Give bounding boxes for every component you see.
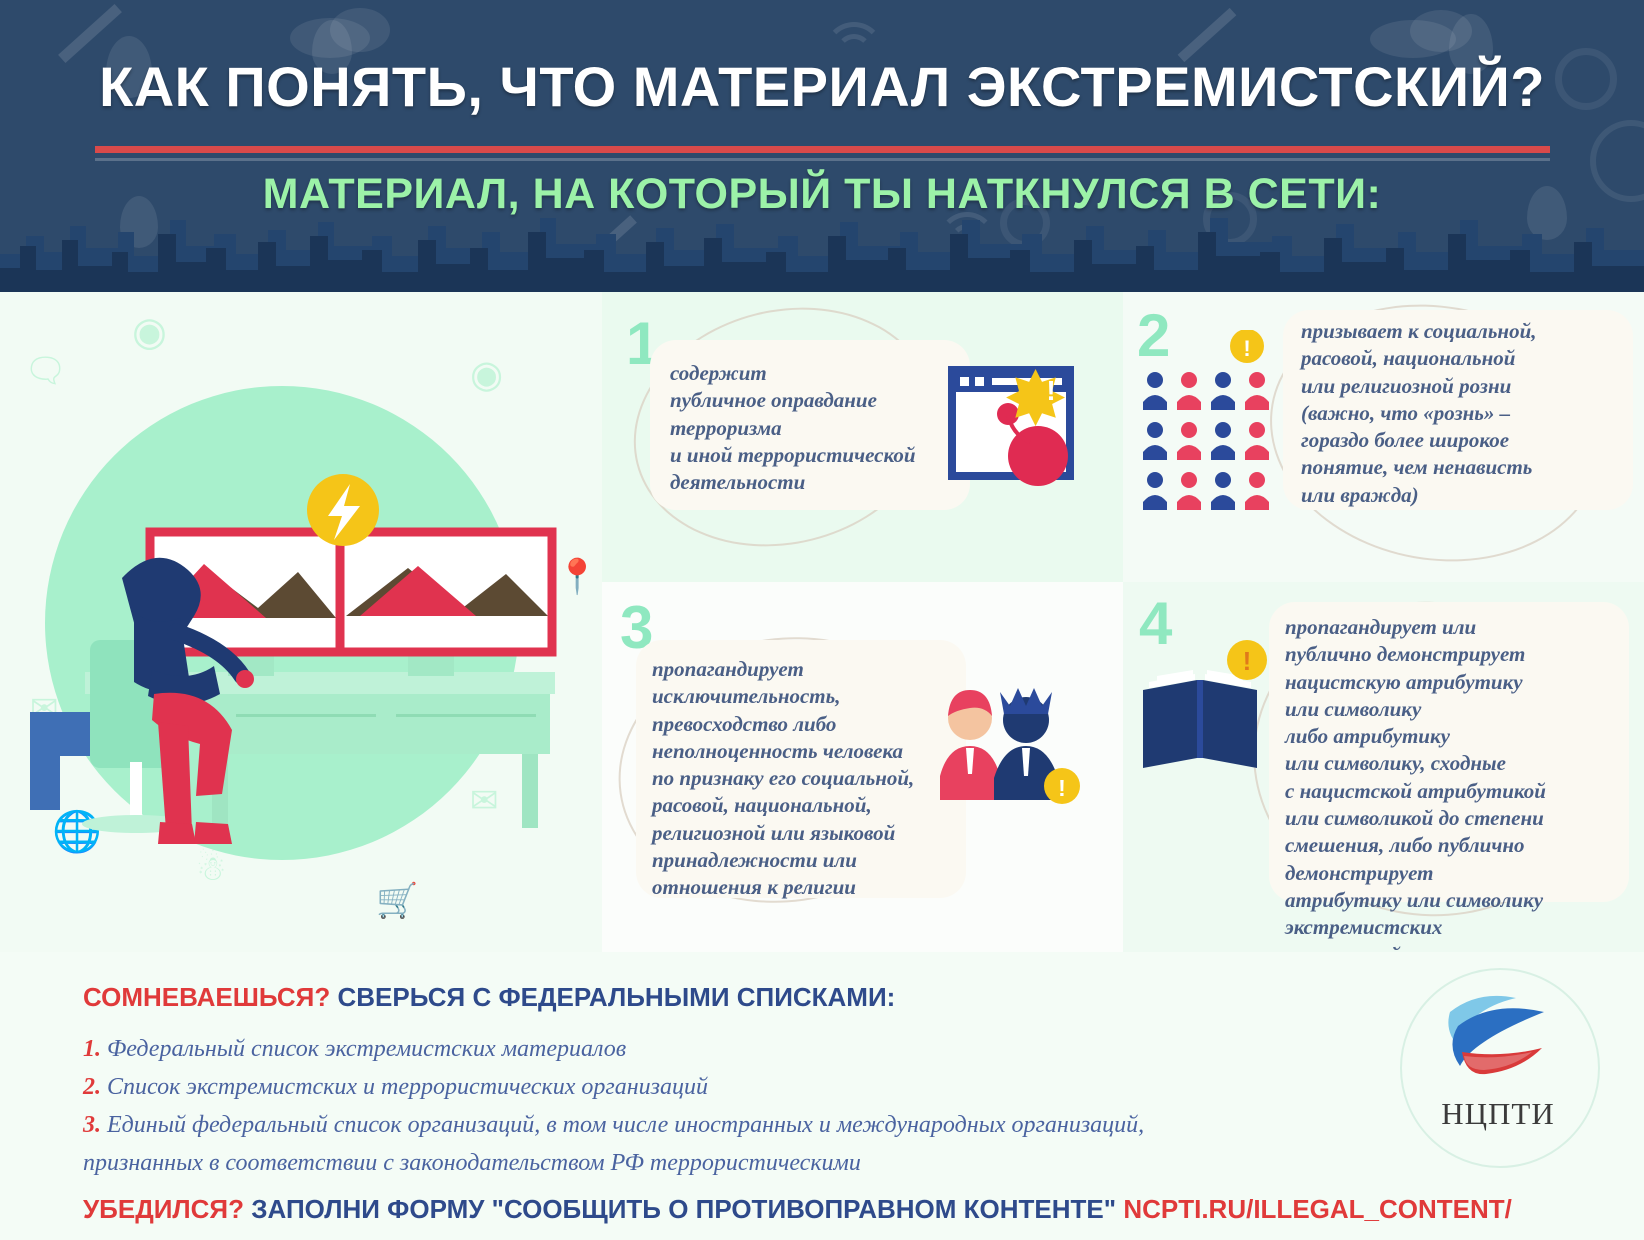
chat-bubble-icon: 🗨 <box>24 354 67 388</box>
list-item: 2. Список экстремистских и террористичес… <box>83 1074 708 1101</box>
list-item-number: 3. <box>83 1112 101 1138</box>
reason-text-4: пропагандирует или публично демонстрируе… <box>1285 614 1635 969</box>
illustration-panel: 🗨 ◉ ◉ 🌐 ✉ ✉ ☃ 🛒 📍 <box>0 292 602 952</box>
reason-cell-1: 1 содержит публичное оправдание террориз… <box>602 292 1123 582</box>
cloud-icon <box>330 8 390 52</box>
reason-text-2: призывает к социальной, расовой, национа… <box>1301 318 1631 509</box>
list-item: 1. Федеральный список экстремистских мат… <box>83 1036 626 1063</box>
list-item-continuation: признанных в соответствии с законодатель… <box>83 1150 861 1177</box>
list-item-number: 1. <box>83 1036 101 1062</box>
reason-text-1: содержит публичное оправдание терроризма… <box>670 360 970 496</box>
open-book-warning-icon: ! <box>1135 634 1285 784</box>
camera-icon: ◉ <box>470 356 503 394</box>
list-item: 3. Единый федеральный список организаций… <box>83 1112 1144 1139</box>
footer-heading-action: СВЕРЬСЯ С ФЕДЕРАЛЬНЫМИ СПИСКАМИ: <box>337 982 895 1012</box>
shopping-cart-icon: 🛒 <box>376 884 418 918</box>
twitter-bird-icon: ☃ <box>196 852 226 886</box>
list-item-label: Список экстремистских и террористических… <box>107 1074 708 1100</box>
title-divider-secondary <box>95 158 1550 161</box>
footer-cta-question: УБЕДИЛСЯ? <box>83 1194 244 1224</box>
page-title: КАК ПОНЯТЬ, ЧТО МАТЕРИАЛ ЭКСТРЕМИСТСКИЙ? <box>0 54 1644 119</box>
footer-cta-url[interactable]: NCPTI.RU/ILLEGAL_CONTENT/ <box>1123 1194 1512 1224</box>
reason-cell-2: 2 призывает к социальной, расовой, нацио… <box>1123 292 1644 582</box>
reason-cell-4: 4 пропагандирует или публично демонстрир… <box>1123 582 1644 952</box>
logo-text: НЦПТИ <box>1400 1096 1596 1132</box>
reason-grid: 1 содержит публичное оправдание террориз… <box>602 292 1644 952</box>
cloud-icon <box>1370 20 1456 58</box>
list-item-label: Единый федеральный список организаций, в… <box>107 1112 1144 1138</box>
browser-window-bomb-icon: ! <box>942 354 1092 494</box>
footer-cta-action: ЗАПОЛНИ ФОРМУ "СООБЩИТЬ О ПРОТИВОПРАВНОМ… <box>251 1194 1116 1224</box>
poster-footer: СОМНЕВАЕШЬСЯ? СВЕРЬСЯ С ФЕДЕРАЛЬНЫМИ СПИ… <box>0 952 1644 1240</box>
footer-cta: УБЕДИЛСЯ? ЗАПОЛНИ ФОРМУ "СООБЩИТЬ О ПРОТ… <box>83 1194 1512 1225</box>
footer-heading: СОМНЕВАЕШЬСЯ? СВЕРЬСЯ С ФЕДЕРАЛЬНЫМИ СПИ… <box>83 982 895 1013</box>
title-divider <box>95 146 1550 153</box>
cloud-icon <box>1410 10 1472 52</box>
svg-text:!: ! <box>1243 336 1250 361</box>
ncpti-globe-swoosh-logo <box>1428 982 1568 1100</box>
crowd-of-people-icon: ! <box>1141 330 1291 520</box>
at-sign-icon: ◉ <box>132 312 167 352</box>
content-area: 🗨 ◉ ◉ 🌐 ✉ ✉ ☃ 🛒 📍 <box>0 292 1644 952</box>
list-item-label: Федеральный список экстремистских матери… <box>107 1036 626 1062</box>
two-people-with-crown-icon: ! <box>922 658 1082 818</box>
reason-cell-3: 3 пропагандирует исключительность, прево… <box>602 582 1123 952</box>
svg-text:!: ! <box>1046 375 1055 406</box>
infographic-poster: КАК ПОНЯТЬ, ЧТО МАТЕРИАЛ ЭКСТРЕМИСТСКИЙ?… <box>0 0 1644 1240</box>
svg-text:!: ! <box>1243 646 1252 676</box>
poster-header: КАК ПОНЯТЬ, ЧТО МАТЕРИАЛ ЭКСТРЕМИСТСКИЙ?… <box>0 0 1644 292</box>
footer-heading-question: СОМНЕВАЕШЬСЯ? <box>83 982 330 1012</box>
cloud-icon <box>290 18 370 58</box>
svg-text:!: ! <box>1058 775 1066 801</box>
ncpti-logo: НЦПТИ <box>1400 968 1600 1168</box>
person-at-desk-illustration <box>30 432 570 852</box>
list-item-number: 2. <box>83 1074 101 1100</box>
page-subtitle: МАТЕРИАЛ, НА КОТОРЫЙ ТЫ НАТКНУЛСЯ В СЕТИ… <box>0 170 1644 219</box>
